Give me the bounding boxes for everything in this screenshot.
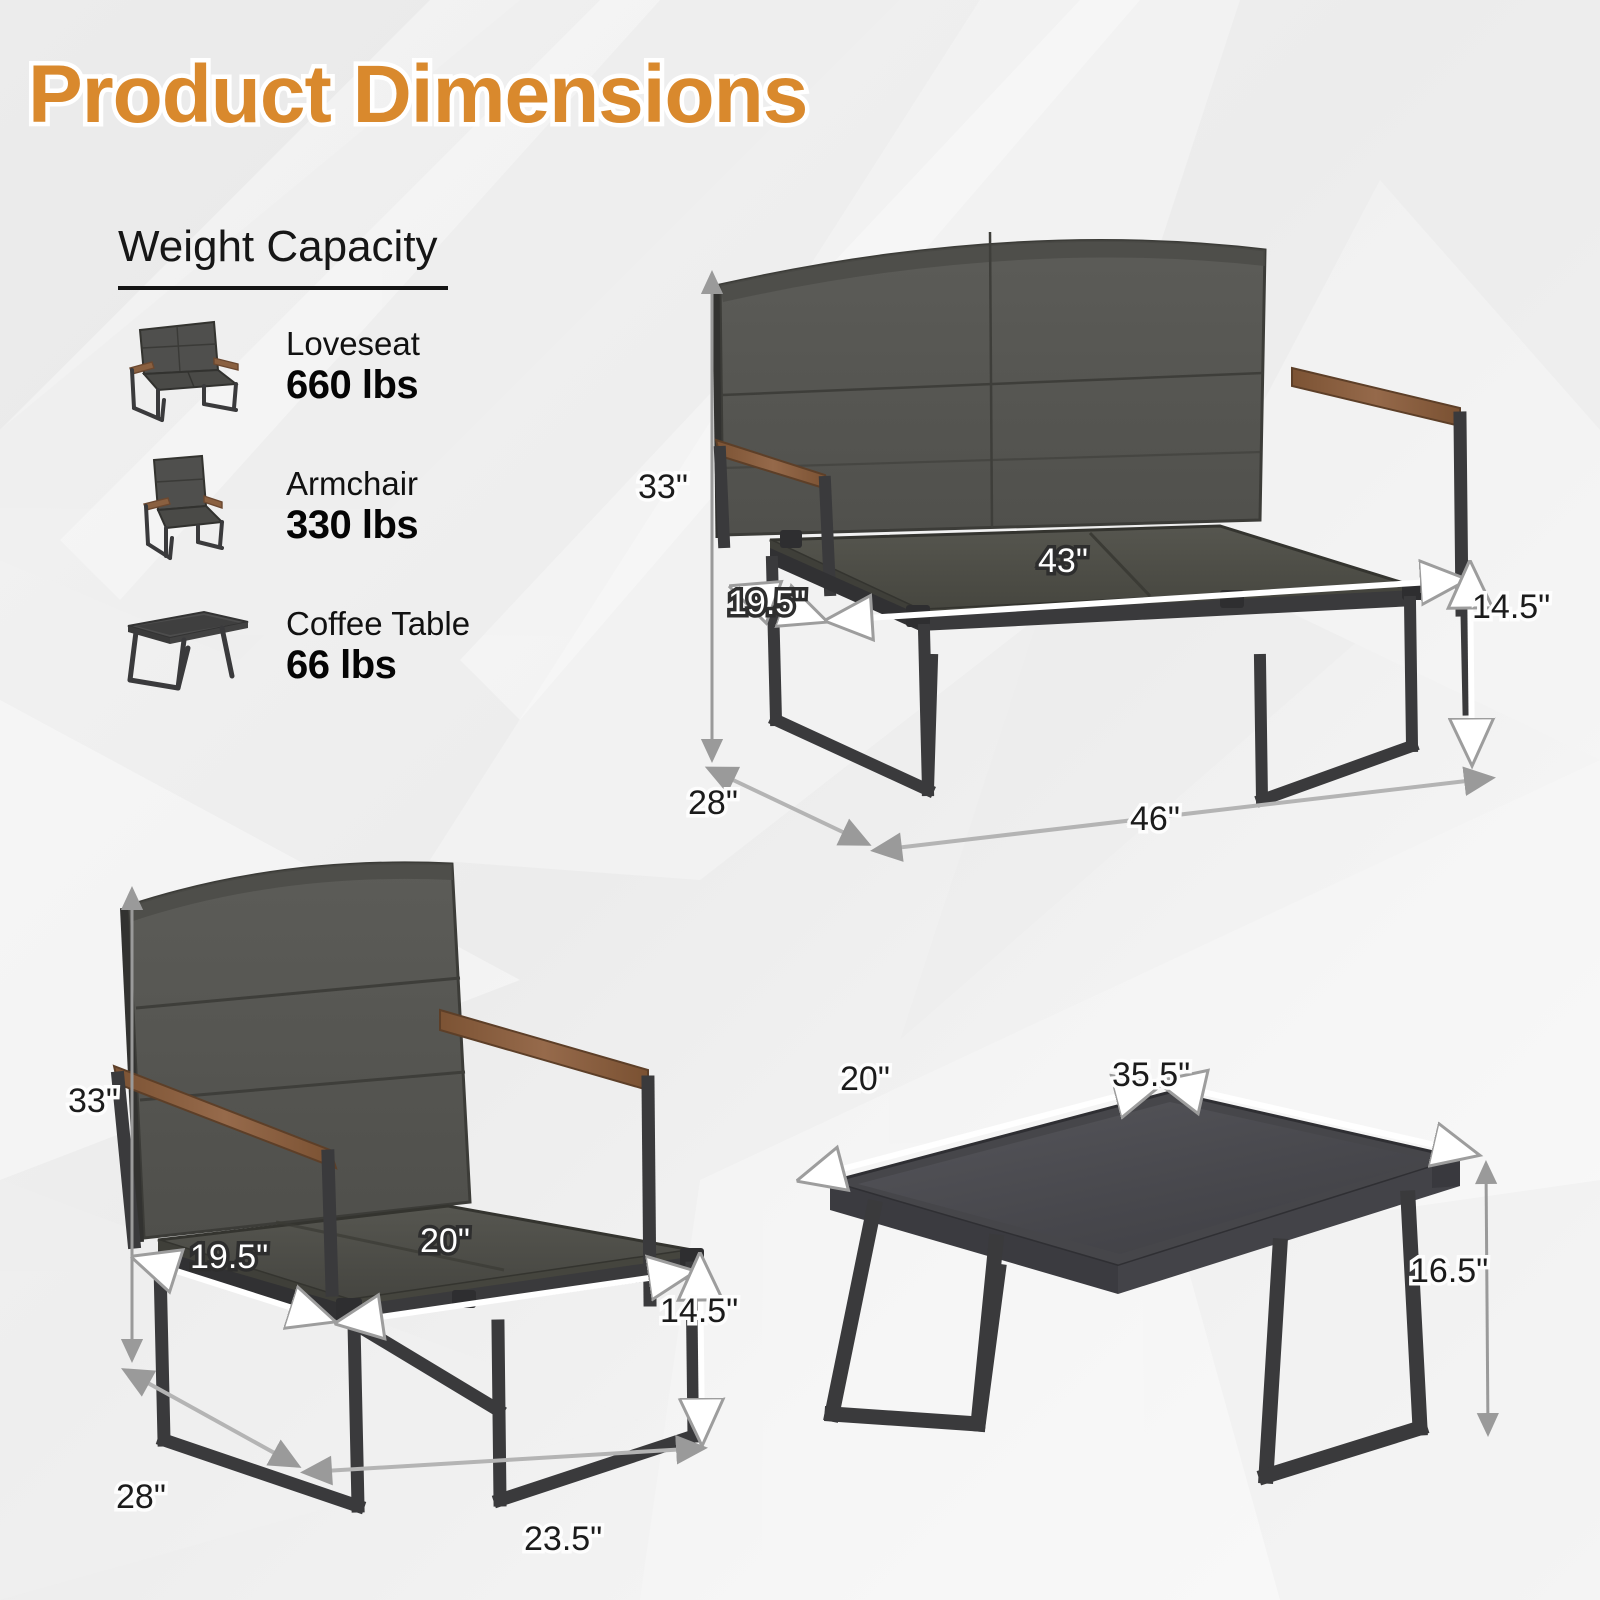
weight-capacity-panel: Weight Capacity [118, 222, 538, 710]
list-item-label: Loveseat [286, 326, 420, 362]
loveseat-icon [118, 308, 268, 426]
loveseat-seat-height-label: 14.5" [1472, 588, 1550, 627]
loveseat-height-label: 33" [638, 468, 688, 507]
weight-capacity-heading: Weight Capacity [118, 222, 538, 272]
loveseat-seat-depth-label: 19.5" [728, 584, 806, 623]
armchair-dimension-arrows [90, 860, 770, 1580]
armchair-height-label: 33" [68, 1082, 118, 1121]
list-item: Coffee Table 66 lbs [118, 584, 538, 710]
loveseat-width-label: 46" [1130, 800, 1180, 839]
page-title: Product Dimensions [28, 48, 807, 142]
list-item: Armchair 330 lbs [118, 444, 538, 570]
coffee-table-dimension-arrows [780, 1030, 1520, 1530]
list-item-label: Armchair [286, 466, 418, 502]
list-item: Loveseat 660 lbs [118, 304, 538, 430]
coffee-table-height-label: 16.5" [1410, 1252, 1488, 1291]
coffee-table-depth-label: 20" [840, 1060, 890, 1099]
armchair-seat-width-label: 20" [420, 1222, 470, 1261]
loveseat-dimension-arrows [600, 200, 1600, 900]
divider [118, 286, 448, 290]
coffee-table-width-label: 35.5" [1112, 1056, 1190, 1095]
list-item-value: 660 lbs [286, 362, 420, 408]
armchair-depth-label: 28" [116, 1478, 166, 1517]
coffee-table-icon [118, 588, 268, 706]
armchair-seat-height-label: 14.5" [660, 1292, 738, 1331]
armchair-seat-depth-label: 19.5" [190, 1238, 268, 1277]
loveseat-depth-label: 28" [688, 784, 738, 823]
list-item-value: 66 lbs [286, 642, 470, 688]
armchair-icon [118, 448, 268, 566]
list-item-value: 330 lbs [286, 502, 418, 548]
loveseat-seat-width-label: 43" [1038, 542, 1088, 581]
list-item-label: Coffee Table [286, 606, 470, 642]
armchair-width-label: 23.5" [524, 1520, 602, 1559]
